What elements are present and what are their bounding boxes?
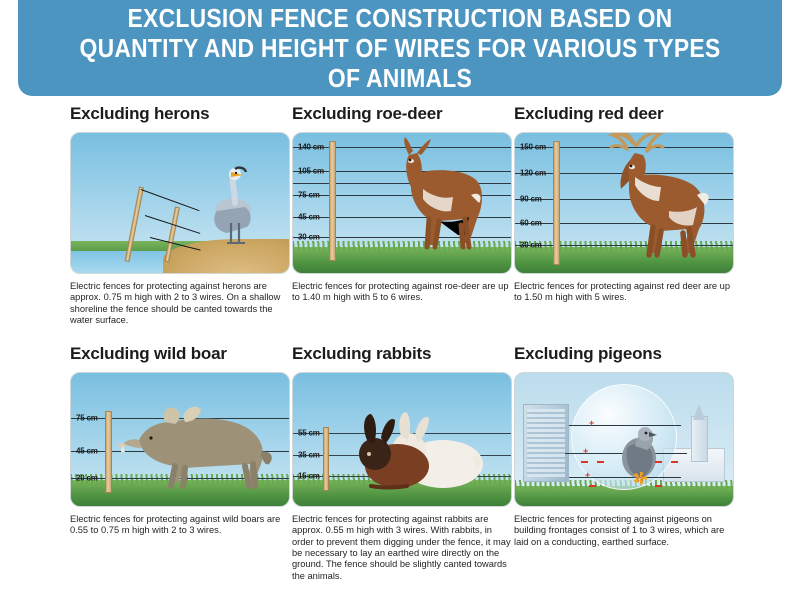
wire-label-75: 75 cm (76, 414, 98, 423)
heron-illustration (205, 163, 263, 247)
caption-wild-boar: Electric fences for protecting against w… (70, 514, 292, 537)
fence-post (553, 141, 560, 265)
wire-label-105: 105 cm (298, 167, 324, 176)
wire-label-45: 45 cm (298, 213, 320, 222)
plus-sign-bottom: + (585, 471, 590, 480)
caption-roe-deer: Electric fences for protecting against r… (292, 281, 514, 304)
wire-label-20: 20 cm (76, 474, 98, 483)
scene-rabbits: 55 cm 35 cm 15 cm (292, 372, 512, 507)
panel-pigeons: Excluding pigeons (514, 344, 736, 582)
scene-red-deer: 150 cm 120 cm 90 cm 60 cm 30 cm (514, 132, 734, 274)
minus-sign-right-middle (655, 461, 662, 463)
wire-label-60: 60 cm (520, 219, 542, 228)
church-spire (693, 404, 705, 420)
scene-wild-boar: 75 cm 45 cm 20 cm (70, 372, 290, 507)
panel-title-rabbits: Excluding rabbits (292, 344, 514, 364)
scene-herons (70, 132, 290, 274)
fence-post (105, 411, 112, 493)
fence-post (323, 427, 329, 491)
caption-herons: Electric fences for protecting against h… (70, 281, 292, 326)
wire-label-150: 150 cm (520, 143, 546, 152)
fence-post (329, 141, 336, 261)
church-steeple (691, 416, 708, 462)
wire-label-90: 90 cm (520, 195, 542, 204)
wire-label-140: 140 cm (298, 143, 324, 152)
minus-sign-left-bottom (589, 485, 596, 487)
wire-label-15: 15 cm (298, 472, 320, 481)
caption-pigeons: Electric fences for protecting against p… (514, 514, 736, 548)
panel-row-bottom: Excluding wild boar (0, 344, 800, 582)
page-title: EXCLUSION FENCE CONSTRUCTION BASED ON QU… (64, 3, 736, 93)
plus-sign-top: + (589, 419, 594, 428)
panel-wild-boar: Excluding wild boar (70, 344, 292, 582)
panel-grid: Excluding herons (0, 104, 800, 582)
panel-title-wild-boar: Excluding wild boar (70, 344, 292, 364)
panel-row-top: Excluding herons (0, 104, 800, 326)
plus-sign-middle: + (583, 447, 588, 456)
caption-red-deer: Electric fences for protecting against r… (514, 281, 736, 304)
panel-herons: Excluding herons (70, 104, 292, 326)
scene-pigeons: + + + (514, 372, 734, 507)
wire-label-55: 55 cm (298, 429, 320, 438)
wire-label-45: 45 cm (76, 447, 98, 456)
rabbits-illustration (351, 410, 501, 490)
wire-label-120: 120 cm (520, 169, 546, 178)
minus-sign-right-middle-2 (671, 461, 678, 463)
red-deer-illustration (569, 133, 729, 259)
scene-roe-deer: 140 cm 105 cm 75 cm 45 cm 30 cm (292, 132, 512, 274)
wild-boar-illustration (113, 394, 283, 490)
wire-label-30: 30 cm (520, 241, 542, 250)
minus-sign-right-bottom (655, 485, 662, 487)
minus-sign-mid-middle (597, 461, 604, 463)
wire-label-30: 30 cm (298, 233, 320, 242)
panel-title-roe-deer: Excluding roe-deer (292, 104, 514, 124)
minus-sign-left-middle (581, 461, 588, 463)
panel-red-deer: Excluding red deer (514, 104, 736, 326)
wire-label-35: 35 cm (298, 451, 320, 460)
wire-label-75: 75 cm (298, 191, 320, 200)
caption-rabbits: Electric fences for protecting against r… (292, 514, 514, 582)
panel-roe-deer: Excluding roe-deer (292, 104, 514, 326)
panel-rabbits: Excluding rabbits (292, 344, 514, 582)
panel-title-red-deer: Excluding red deer (514, 104, 736, 124)
office-building-icon (523, 404, 569, 482)
header-banner: EXCLUSION FENCE CONSTRUCTION BASED ON QU… (18, 0, 782, 96)
roe-deer-illustration (353, 135, 503, 255)
panel-title-pigeons: Excluding pigeons (514, 344, 736, 364)
panel-title-herons: Excluding herons (70, 104, 292, 124)
